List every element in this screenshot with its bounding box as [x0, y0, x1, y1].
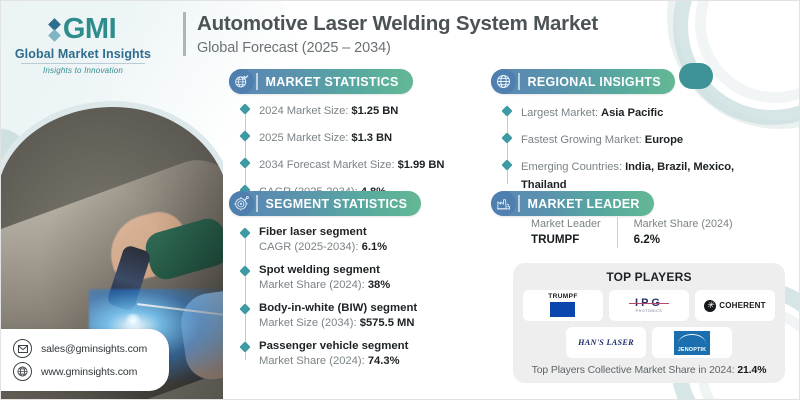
- market-statistics-list: 2024 Market Size: $1.25 BN 2025 Market S…: [241, 101, 491, 200]
- bullet-diamond-icon: [239, 341, 250, 352]
- player-logo-trumpf[interactable]: TRUMPF: [523, 290, 603, 321]
- top-players-grid: TRUMPF IPG PHOTONICS ✳ COHERENT: [523, 290, 775, 358]
- page-subtitle: Global Forecast (2025 – 2034): [197, 40, 598, 56]
- list-item: Emerging Countries: India, Brazil, Mexic…: [503, 157, 773, 193]
- market-leader-details: Market Leader TRUMPF Market Share (2024)…: [531, 217, 749, 248]
- top-players-title: TOP PLAYERS: [523, 270, 775, 284]
- list-item-text: Market Size (2034): $575.5 MN: [259, 316, 491, 331]
- list-item-title: Spot welding segment: [259, 263, 491, 278]
- decor-pill: [679, 63, 713, 89]
- list-item-title: Body-in-white (BIW) segment: [259, 301, 491, 316]
- market-share-value: 6.2%: [634, 232, 733, 248]
- bullet-diamond-icon: [239, 130, 250, 141]
- badge-divider: [518, 195, 520, 212]
- contact-website: www.gminsights.com: [41, 366, 137, 378]
- list-item: 2034 Forecast Market Size: $1.99 BN: [241, 155, 491, 173]
- list-item-text: 2024 Market Size: $1.25 BN: [259, 105, 398, 117]
- list-item: Passenger vehicle segment Market Share (…: [241, 339, 491, 369]
- top-players-footer-label: Top Players Collective Market Share in 2…: [532, 365, 735, 376]
- contact-email: sales@gminsights.com: [41, 343, 147, 355]
- section-label-market-statistics: MARKET STATISTICS: [266, 75, 413, 89]
- globe-icon: [13, 362, 32, 381]
- regional-insights-list: Largest Market: Asia Pacific Fastest Gro…: [503, 103, 773, 193]
- list-item-text: Market Share (2024): 74.3%: [259, 354, 491, 369]
- list-item: 2025 Market Size: $1.3 BN: [241, 128, 491, 146]
- ipg-logo-text: IPG: [635, 298, 663, 309]
- hans-laser-logo-text: HAN'S LASER: [578, 338, 634, 347]
- bullet-diamond-icon: [239, 103, 250, 114]
- badge-divider: [256, 73, 258, 90]
- logo-divider: [21, 63, 145, 64]
- market-leader-value: TRUMPF: [531, 232, 601, 248]
- player-logo-coherent[interactable]: ✳ COHERENT: [695, 290, 775, 321]
- bullet-diamond-icon: [239, 303, 250, 314]
- factory-icon: [491, 191, 516, 216]
- ipg-logo-icon: IPG PHOTONICS: [635, 298, 663, 314]
- bullet-diamond-icon: [501, 160, 512, 171]
- segment-statistics-list: Fiber laser segment CAGR (2025-2034): 6.…: [241, 225, 491, 369]
- logo-acronym: GMI: [63, 15, 116, 44]
- market-share-column: Market Share (2024) 6.2%: [617, 217, 749, 248]
- player-logo-hans-laser[interactable]: HAN'S LASER: [566, 327, 646, 358]
- logo-company-name: Global Market Insights: [13, 47, 153, 61]
- top-players-panel: TOP PLAYERS TRUMPF IPG PHOTONICS ✳: [513, 263, 785, 383]
- list-item-text: Market Share (2024): 38%: [259, 278, 491, 293]
- gear-icon: ✳: [704, 300, 716, 312]
- section-label-regional-insights: REGIONAL INSIGHTS: [528, 75, 675, 89]
- section-header-segment-statistics: SEGMENT STATISTICS: [229, 191, 421, 216]
- ipg-logo-subtext: PHOTONICS: [636, 310, 663, 314]
- jenoptik-logo-icon: JENOPTIK: [674, 331, 710, 355]
- list-item-text: 2025 Market Size: $1.3 BN: [259, 132, 392, 144]
- page-title: Automotive Laser Welding System Market: [197, 12, 598, 37]
- list-item: Spot welding segment Market Share (2024)…: [241, 263, 491, 293]
- bullet-diamond-icon: [501, 132, 512, 143]
- diamond-icon: [50, 20, 59, 40]
- brand-logo: GMI Global Market Insights Insights to I…: [13, 15, 153, 75]
- list-item: Body-in-white (BIW) segment Market Size …: [241, 301, 491, 331]
- list-connector-line: [245, 108, 246, 191]
- list-item-title: Passenger vehicle segment: [259, 339, 491, 354]
- list-item: 2024 Market Size: $1.25 BN: [241, 101, 491, 119]
- jenoptik-logo-text: JENOPTIK: [678, 347, 707, 353]
- section-label-segment-statistics: SEGMENT STATISTICS: [266, 197, 422, 211]
- bullet-diamond-icon: [239, 227, 250, 238]
- list-item-text: Largest Market: Asia Pacific: [521, 107, 663, 119]
- envelope-icon: [13, 339, 32, 358]
- contact-panel: sales@gminsights.com www.gminsights.com: [1, 329, 169, 391]
- contact-email-row[interactable]: sales@gminsights.com: [13, 337, 159, 360]
- coherent-logo-text: COHERENT: [719, 301, 766, 310]
- market-leader-key: Market Leader: [531, 217, 601, 232]
- logo-mark-row: GMI: [13, 15, 153, 44]
- bullet-diamond-icon: [501, 105, 512, 116]
- market-leader-column: Market Leader TRUMPF: [531, 217, 617, 248]
- list-item-text: 2034 Forecast Market Size: $1.99 BN: [259, 159, 444, 171]
- target-icon: [229, 191, 254, 216]
- bullet-diamond-icon: [239, 265, 250, 276]
- coherent-logo-icon: ✳ COHERENT: [704, 300, 766, 312]
- player-logo-jenoptik[interactable]: JENOPTIK: [652, 327, 732, 358]
- list-item-text: Emerging Countries: India, Brazil, Mexic…: [521, 161, 734, 191]
- list-item-text: Fastest Growing Market: Europe: [521, 134, 683, 146]
- infographic-canvas: GMI Global Market Insights Insights to I…: [0, 0, 800, 400]
- list-item-text: CAGR (2025-2034): 6.1%: [259, 240, 491, 255]
- trumpf-logo-text: TRUMPF: [548, 294, 577, 301]
- section-header-market-leader: MARKET LEADER: [491, 191, 654, 216]
- market-share-key: Market Share (2024): [634, 217, 733, 232]
- list-item-title: Fiber laser segment: [259, 225, 491, 240]
- globe-icon: [491, 69, 516, 94]
- top-players-footer-value: 21.4%: [737, 365, 766, 376]
- globe-chart-icon: [229, 69, 254, 94]
- page-title-block: Automotive Laser Welding System Market G…: [183, 12, 598, 56]
- badge-divider: [256, 195, 258, 212]
- section-header-market-statistics: MARKET STATISTICS: [229, 69, 413, 94]
- top-players-footer: Top Players Collective Market Share in 2…: [523, 365, 775, 376]
- badge-divider: [518, 73, 520, 90]
- contact-website-row[interactable]: www.gminsights.com: [13, 360, 159, 383]
- section-label-market-leader: MARKET LEADER: [528, 197, 654, 211]
- list-item: Largest Market: Asia Pacific: [503, 103, 773, 121]
- section-header-regional-insights: REGIONAL INSIGHTS: [491, 69, 675, 94]
- trumpf-logo-icon: TRUMPF: [548, 294, 577, 317]
- list-item: Fastest Growing Market: Europe: [503, 130, 773, 148]
- list-item: Fiber laser segment CAGR (2025-2034): 6.…: [241, 225, 491, 255]
- logo-tagline: Insights to Innovation: [13, 66, 153, 75]
- bullet-diamond-icon: [239, 158, 250, 169]
- player-logo-ipg[interactable]: IPG PHOTONICS: [609, 290, 689, 321]
